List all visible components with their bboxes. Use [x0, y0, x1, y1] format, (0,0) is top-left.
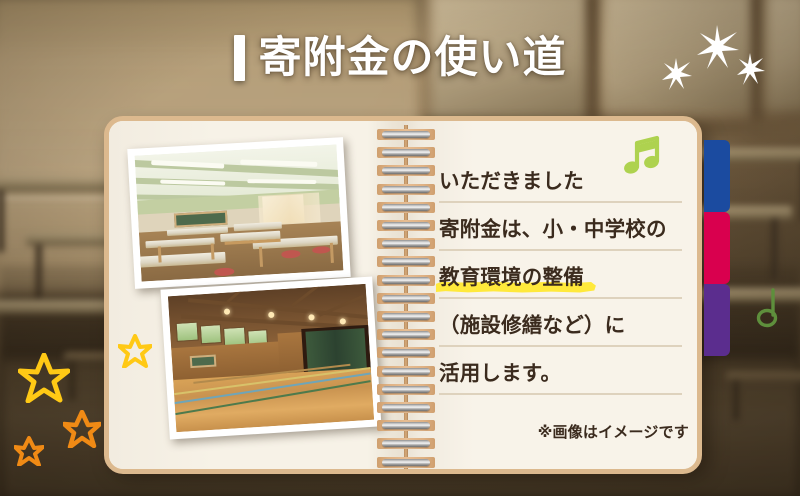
text-line-2-highlighted: 教育環境の整備	[439, 265, 584, 289]
photo-classroom-image	[135, 144, 344, 281]
photo-classroom	[127, 137, 350, 289]
text-rule-1	[439, 249, 682, 251]
spiral-ring	[377, 256, 435, 267]
spiral-ring	[377, 402, 435, 413]
spiral-ring	[377, 384, 435, 395]
spiral-ring	[377, 347, 435, 358]
text-line-0-label: いただきました	[439, 171, 584, 192]
spiral-ring	[377, 366, 435, 377]
spiral-binding-icon	[377, 121, 435, 474]
text-line-1-label: 寄附金は、小・中学校の	[439, 219, 667, 240]
text-rule-4	[439, 393, 682, 395]
vertical-bar-marker-icon	[234, 35, 245, 81]
music-note-beamed-icon	[623, 135, 663, 181]
photo-gymnasium	[160, 276, 381, 439]
image-disclaimer-caption: ※画像はイメージです	[439, 421, 689, 442]
spiral-ring	[377, 202, 435, 213]
spiral-ring	[377, 165, 435, 176]
spiral-ring	[377, 147, 435, 158]
star-yellow-large-icon	[18, 353, 70, 407]
tab-purple[interactable]	[704, 284, 730, 356]
notebook-page: いただきました 寄附金は、小・中学校の 教育環境の整備 （施設修繕など）に	[104, 116, 702, 474]
spiral-ring	[377, 275, 435, 286]
star-orange-icon	[63, 410, 101, 452]
photo-gymnasium-image	[168, 284, 374, 432]
star-yellow-small-icon	[118, 334, 152, 372]
page-title: 寄附金の使い道	[259, 37, 567, 80]
tab-blue[interactable]	[704, 140, 730, 212]
text-rule-2	[439, 297, 682, 299]
tab-crimson[interactable]	[704, 212, 730, 284]
spiral-ring	[377, 238, 435, 249]
spiral-ring	[377, 420, 435, 431]
spiral-ring	[377, 329, 435, 340]
spiral-ring	[377, 220, 435, 231]
sparkle-star-1-icon	[661, 57, 693, 95]
text-rule-0	[439, 201, 682, 203]
spiral-ring	[377, 293, 435, 304]
sparkle-star-2-icon	[696, 24, 740, 76]
text-line-3-label: （施設修繕など）に	[439, 315, 625, 336]
spiral-ring	[377, 311, 435, 322]
text-line-2-label: 教育環境の整備	[439, 267, 584, 288]
spiral-ring	[377, 457, 435, 468]
sparkle-star-3-icon	[736, 52, 766, 90]
text-line-4-label: 活用します。	[439, 363, 561, 384]
spiral-ring	[377, 438, 435, 449]
spiral-ring	[377, 184, 435, 195]
star-orange-bottom-icon	[14, 436, 44, 470]
spiral-ring	[377, 129, 435, 140]
text-rule-3	[439, 345, 682, 347]
music-note-single-icon	[756, 288, 782, 332]
notebook: いただきました 寄附金は、小・中学校の 教育環境の整備 （施設修繕など）に	[104, 116, 716, 476]
